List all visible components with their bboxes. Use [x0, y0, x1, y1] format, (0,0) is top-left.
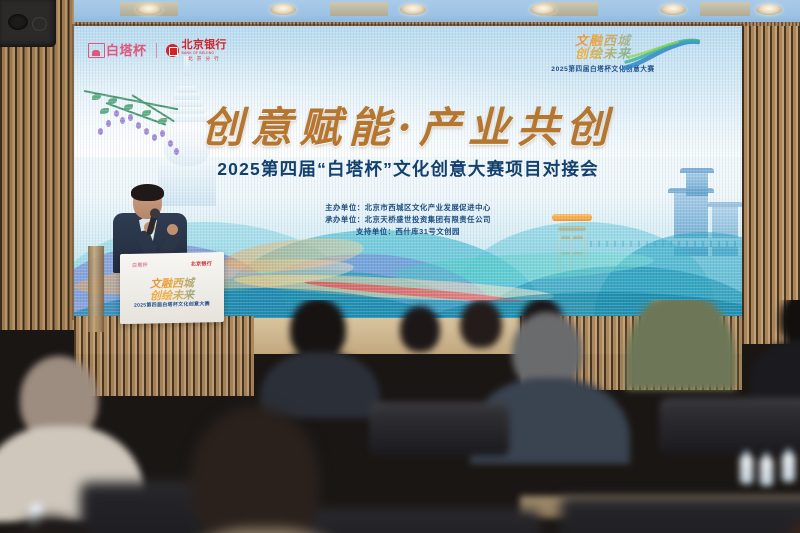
podium-logo-left: 白塔杯	[132, 262, 148, 269]
bank-of-beijing-logo: 北京银行 BANK OF BEIJING 北 京 分 行	[166, 40, 227, 62]
event-photo-scene: 白塔杯 北京银行 BANK OF BEIJING 北 京 分 行 文融西城 创绘…	[0, 0, 800, 533]
baita-mark-icon	[88, 43, 105, 58]
screen-brand-logos: 白塔杯 北京银行 BANK OF BEIJING 北 京 分 行	[88, 40, 227, 62]
ceiling-downlight-icon	[660, 4, 686, 15]
wood-slat-wall-right	[742, 26, 800, 344]
ceiling-downlight-icon	[530, 4, 556, 15]
ceiling-loudspeaker	[0, 0, 56, 47]
wood-slat-wall-left	[0, 0, 74, 330]
main-title: 创意赋能·产业共创	[74, 94, 742, 155]
conference-chair	[560, 496, 800, 533]
sub-title: 2025第四届“白塔杯”文化创意大赛项目对接会	[74, 156, 742, 181]
podium-logo-right: 北京银行	[191, 260, 212, 267]
logo-divider	[156, 43, 157, 58]
speaker-hand-right	[167, 224, 178, 235]
bank-branch-text: 北 京 分 行	[182, 57, 227, 62]
swoosh-ribbon-icon	[622, 38, 700, 72]
audience-area	[0, 300, 800, 533]
bank-logo-en: BANK OF BEIJING	[182, 52, 227, 55]
speaker-hair	[131, 184, 164, 201]
bank-mark-icon	[166, 44, 179, 57]
ceiling-downlight-icon	[270, 4, 296, 15]
ceiling-downlight-icon	[756, 4, 782, 15]
baita-logo-text: 白塔杯	[106, 44, 147, 57]
audience-head	[190, 406, 320, 533]
baita-cup-logo: 白塔杯	[88, 43, 147, 58]
bank-logo-text: 北京银行	[182, 40, 227, 51]
conference-chair	[290, 510, 540, 533]
competition-logo: 文融西城 创绘未来 2025第四届白塔杯文化创意大赛	[508, 34, 698, 86]
ceiling-downlight-icon	[400, 4, 426, 15]
ceiling-downlight-icon	[136, 4, 162, 15]
